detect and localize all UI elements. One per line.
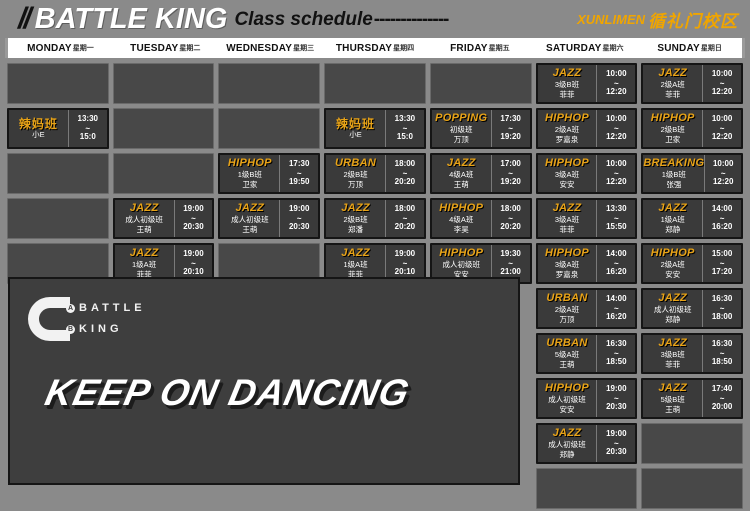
class-style-name: 辣妈班 [336,118,375,131]
class-style-name: URBAN [335,158,376,170]
class-level: 2级A班 [661,260,685,269]
empty-slot [7,153,109,194]
empty-slot [113,108,215,149]
campus-name-en: XUNLIMEN [577,12,645,27]
class-teacher: 万顶 [348,180,363,189]
day-name-cn: 星期四 [393,43,414,53]
class-end-time: 15:0 [80,132,96,143]
class-teacher: 李昊 [454,225,469,234]
time-range-tilde: ~ [191,260,196,267]
class-card[interactable]: HIPHOP1级B班卫家17:30~19:50 [218,153,320,194]
class-time: 15:00~17:20 [703,245,741,282]
day-header-friday: FRIDAY星期五 [427,38,532,58]
class-level: 成人初级班 [231,215,269,224]
class-level: 1级A班 [132,260,156,269]
class-teacher: 安安 [559,405,574,414]
class-teacher: 菲菲 [559,225,574,234]
class-level: 2级B班 [661,125,685,134]
time-range-tilde: ~ [297,215,302,222]
class-info: HIPHOP1级B班卫家 [220,155,279,192]
class-card[interactable]: HIPHOP2级A班罗嘉泉10:00~12:20 [536,108,638,149]
class-level: 成人初级班 [548,395,586,404]
class-teacher: 罗嘉泉 [556,270,579,279]
class-teacher: 郑潘 [348,225,363,234]
class-info: HIPHOP成人初级班安安 [538,380,597,417]
class-card[interactable]: POPPING初级班万顶17:30~19:20 [430,108,532,149]
class-time: 16:30~18:00 [703,290,741,327]
class-card[interactable]: HIPHOP2级B班卫家10:00~12:20 [641,108,743,149]
class-teacher: 王萌 [137,225,152,234]
class-card[interactable]: JAZZ3级B班菲菲10:00~12:20 [536,63,638,104]
class-time: 17:00~19:20 [492,155,530,192]
slash-logo-icon: // [18,4,29,34]
class-style-name: HIPHOP [545,248,589,260]
class-style-name: JAZZ [658,68,687,80]
class-end-time: 19:20 [500,177,520,188]
class-teacher: 菲菲 [665,90,680,99]
class-time: 18:00~20:20 [386,200,424,237]
class-info: JAZZ1级A班郑静 [643,200,702,237]
class-card[interactable]: HIPHOP3级A班安安10:00~12:20 [536,153,638,194]
class-style-name: JAZZ [658,338,687,350]
empty-slot [641,423,743,464]
class-info: JAZZ成人初级班郑静 [538,425,597,462]
logo-panel: A BATTLE B KING KEEP ON DANCING [8,277,520,485]
class-style-name: JAZZ [130,248,159,260]
class-end-time: 20:20 [395,222,415,233]
class-level: 3级A班 [555,260,579,269]
class-teacher: 菲菲 [665,360,680,369]
time-range-tilde: ~ [297,170,302,177]
c-shape-icon [28,297,70,341]
time-range-tilde: ~ [508,170,513,177]
empty-slot [7,198,109,239]
logo-line-king: B KING [66,324,146,335]
class-end-time: 20:00 [712,402,732,413]
class-level: 成人初级班 [443,260,481,269]
class-style-name: JAZZ [658,293,687,305]
class-info: JAZZ成人初级班王萌 [220,200,279,237]
class-level: 3级B班 [555,80,579,89]
brand-title: BATTLE KING [35,5,228,34]
badge-b-icon: B [66,325,75,334]
empty-slot [430,63,532,104]
class-time: 19:00~20:30 [175,200,213,237]
class-end-time: 12:20 [606,177,626,188]
class-time: 13:30~15:0 [69,110,107,147]
class-time: 10:00~12:20 [597,155,635,192]
class-level: 2级B班 [343,215,367,224]
time-range-tilde: ~ [720,350,725,357]
class-card[interactable]: URBAN5级A班王萌16:30~18:50 [536,333,638,374]
class-info: URBAN2级B班万顶 [326,155,385,192]
class-level: 2级A班 [555,305,579,314]
class-card[interactable]: HIPHOP成人初级班安安19:00~20:30 [536,378,638,419]
class-time: 13:30~15:50 [597,200,635,237]
battle-king-logo: A BATTLE B KING [28,297,146,341]
day-column-saturday: JAZZ3级B班菲菲10:00~12:20HIPHOP2级A班罗嘉泉10:00~… [534,61,640,511]
time-range-tilde: ~ [614,125,619,132]
class-level: 成人初级班 [654,305,692,314]
day-name-en: TUESDAY [130,43,178,54]
class-end-time: 18:50 [712,357,732,368]
class-level: 2级A班 [555,125,579,134]
class-card[interactable]: JAZZ1级A班郑静14:00~16:20 [641,198,743,239]
class-style-name: JAZZ [658,203,687,215]
time-range-tilde: ~ [508,260,513,267]
class-style-name: HIPHOP [228,158,272,170]
logo-line-battle: A BATTLE [66,303,146,314]
day-header-sunday: SUNDAY星期日 [637,38,742,58]
time-range-tilde: ~ [614,80,619,87]
day-header-thursday: THURSDAY星期四 [323,38,428,58]
class-card[interactable]: JAZZ成人初级班王萌19:00~20:30 [113,198,215,239]
class-end-time: 15:50 [606,222,626,233]
class-style-name: BREAKING [643,158,704,170]
poster-header: // BATTLE KING Class schedule ----------… [0,0,750,38]
class-teacher: 菲菲 [559,90,574,99]
class-card[interactable]: HIPHOP3级A班罗嘉泉14:00~16:20 [536,243,638,284]
time-range-tilde: ~ [720,125,725,132]
class-level: 初级班 [450,125,473,134]
empty-slot [7,63,109,104]
day-name-cn: 星期日 [701,43,722,53]
class-level: 3级B班 [661,350,685,359]
time-range-tilde: ~ [508,125,513,132]
class-teacher: 张强 [666,180,681,189]
empty-slot [324,63,426,104]
class-time: 10:00~12:20 [597,65,635,102]
class-end-time: 20:20 [500,222,520,233]
class-teacher: 罗嘉泉 [556,135,579,144]
day-name-cn: 星期二 [179,43,200,53]
class-level: 4级A班 [449,170,473,179]
day-header-monday: MONDAY星期一 [8,38,113,58]
time-range-tilde: ~ [721,170,726,177]
class-time: 16:30~18:50 [703,335,741,372]
class-info: JAZZ4级A班王萌 [432,155,491,192]
class-time: 10:00~12:20 [703,65,741,102]
time-range-tilde: ~ [403,125,408,132]
class-time: 19:00~20:30 [597,380,635,417]
class-level: 成人初级班 [548,440,586,449]
day-name-en: SATURDAY [546,43,602,54]
class-teacher: 小E [32,130,45,139]
class-level: 4级A班 [449,215,473,224]
class-style-name: 辣妈班 [19,118,58,131]
class-level: 1级B班 [662,170,686,179]
class-time: 18:00~20:20 [386,155,424,192]
class-style-name: JAZZ [553,68,582,80]
class-end-time: 16:20 [606,312,626,323]
class-end-time: 15:0 [397,132,413,143]
time-range-tilde: ~ [614,440,619,447]
class-card[interactable]: JAZZ成人初级班郑静16:30~18:00 [641,288,743,329]
class-info: JAZZ成人初级班王萌 [115,200,174,237]
class-end-time: 12:20 [606,87,626,98]
class-card[interactable]: JAZZ2级B班郑潘18:00~20:20 [324,198,426,239]
day-name-en: THURSDAY [336,43,392,54]
empty-slot [218,63,320,104]
class-end-time: 12:20 [712,132,732,143]
time-range-tilde: ~ [508,215,513,222]
class-style-name: URBAN [546,338,587,350]
day-name-en: WEDNESDAY [226,43,292,54]
class-teacher: 郑静 [665,315,680,324]
time-range-tilde: ~ [614,170,619,177]
time-range-tilde: ~ [720,395,725,402]
empty-slot [218,108,320,149]
empty-slot [641,468,743,509]
class-style-name: URBAN [546,293,587,305]
class-teacher: 王萌 [559,360,574,369]
class-card[interactable]: HIPHOP4级A班李昊18:00~20:20 [430,198,532,239]
class-card[interactable]: JAZZ成人初级班王萌19:00~20:30 [218,198,320,239]
campus-name-cn: 循礼门校区 [648,7,738,32]
class-teacher: 卫家 [242,180,257,189]
class-card[interactable]: JAZZ2级A班菲菲10:00~12:20 [641,63,743,104]
class-style-name: JAZZ [235,203,264,215]
class-card[interactable]: 辣妈班小E13:30~15:0 [7,108,109,149]
class-time: 14:00~16:20 [597,245,635,282]
class-card[interactable]: URBAN2级A班万顶14:00~16:20 [536,288,638,329]
day-name-en: SUNDAY [657,43,700,54]
class-style-name: HIPHOP [439,248,483,260]
class-info: HIPHOP2级A班罗嘉泉 [538,110,597,147]
class-level: 1级A班 [661,215,685,224]
logo-text-king: KING [79,324,123,335]
class-style-name: JAZZ [553,428,582,440]
class-end-time: 16:20 [712,222,732,233]
class-style-name: JAZZ [341,248,370,260]
class-end-time: 20:30 [289,222,309,233]
class-info: POPPING初级班万顶 [432,110,491,147]
class-card[interactable]: 辣妈班小E13:30~15:0 [324,108,426,149]
class-style-name: HIPHOP [545,113,589,125]
time-range-tilde: ~ [85,125,90,132]
class-card[interactable]: JAZZ4级A班王萌17:00~19:20 [430,153,532,194]
class-card[interactable]: JAZZ3级A班菲菲13:30~15:50 [536,198,638,239]
class-time: 17:30~19:50 [280,155,318,192]
class-level: 2级A班 [661,80,685,89]
time-range-tilde: ~ [403,260,408,267]
class-time: 10:00~12:20 [597,110,635,147]
class-teacher: 王萌 [454,180,469,189]
class-time: 13:30~15:0 [386,110,424,147]
class-end-time: 20:30 [606,402,626,413]
class-level: 5级B班 [661,395,685,404]
class-teacher: 卫家 [665,135,680,144]
class-end-time: 17:20 [712,267,732,278]
day-name-cn: 星期六 [602,43,623,53]
class-end-time: 18:00 [712,312,732,323]
class-time: 10:00~12:20 [705,155,741,192]
class-info: JAZZ2级A班菲菲 [643,65,702,102]
class-style-name: HIPHOP [439,203,483,215]
class-style-name: POPPING [435,113,487,125]
day-name-cn: 星期五 [489,43,510,53]
class-info: JAZZ3级B班菲菲 [643,335,702,372]
class-card[interactable]: HIPHOP2级A班安安15:00~17:20 [641,243,743,284]
class-style-name: JAZZ [553,203,582,215]
class-time: 14:00~16:20 [597,290,635,327]
class-end-time: 20:30 [183,222,203,233]
day-name-cn: 星期三 [293,43,314,53]
class-style-name: HIPHOP [545,158,589,170]
class-end-time: 19:50 [289,177,309,188]
class-info: URBAN2级A班万顶 [538,290,597,327]
time-range-tilde: ~ [720,215,725,222]
class-teacher: 安安 [559,180,574,189]
day-name-en: FRIDAY [450,43,488,54]
class-end-time: 12:20 [606,132,626,143]
day-name-cn: 星期一 [73,43,94,53]
class-level: 3级A班 [555,170,579,179]
day-header-row: MONDAY星期一TUESDAY星期二WEDNESDAY星期三THURSDAY星… [5,38,745,58]
time-range-tilde: ~ [614,305,619,312]
class-level: 1级A班 [343,260,367,269]
empty-slot [113,153,215,194]
class-style-name: HIPHOP [651,113,695,125]
empty-slot [113,63,215,104]
class-time: 16:30~18:50 [597,335,635,372]
class-card[interactable]: JAZZ5级B班王萌17:40~20:00 [641,378,743,419]
class-info: HIPHOP2级A班安安 [643,245,702,282]
class-end-time: 16:20 [606,267,626,278]
class-time: 17:40~20:00 [703,380,741,417]
badge-a-icon: A [66,304,75,313]
slogan-text: KEEP ON DANCING [42,374,510,411]
class-card[interactable]: JAZZ3级B班菲菲16:30~18:50 [641,333,743,374]
day-name-en: MONDAY [27,43,72,54]
class-style-name: JAZZ [447,158,476,170]
time-range-tilde: ~ [720,80,725,87]
class-info: JAZZ2级B班郑潘 [326,200,385,237]
class-card[interactable]: JAZZ成人初级班郑静19:00~20:30 [536,423,638,464]
class-info: JAZZ成人初级班郑静 [643,290,702,327]
poster-subtitle: Class schedule [234,10,372,29]
class-level: 5级A班 [555,350,579,359]
class-info: HIPHOP3级A班安安 [538,155,597,192]
class-teacher: 安安 [665,270,680,279]
class-time: 19:00~20:30 [597,425,635,462]
logo-wordmark: A BATTLE B KING [66,297,146,341]
class-info: JAZZ3级B班菲菲 [538,65,597,102]
class-end-time: 20:30 [606,447,626,458]
logo-text-battle: BATTLE [79,303,146,314]
time-range-tilde: ~ [614,395,619,402]
time-range-tilde: ~ [614,350,619,357]
day-column-sunday: JAZZ2级A班菲菲10:00~12:20HIPHOP2级B班卫家10:00~1… [639,61,745,511]
class-card[interactable]: BREAKING1级B班张强10:00~12:20 [641,153,743,194]
class-teacher: 郑静 [559,450,574,459]
class-info: HIPHOP4级A班李昊 [432,200,491,237]
class-end-time: 18:50 [606,357,626,368]
class-teacher: 万顶 [559,315,574,324]
class-teacher: 万顶 [454,135,469,144]
class-end-time: 20:20 [395,177,415,188]
class-info: JAZZ5级B班王萌 [643,380,702,417]
empty-slot [536,468,638,509]
class-info: HIPHOP3级A班罗嘉泉 [538,245,597,282]
day-header-tuesday: TUESDAY星期二 [113,38,218,58]
class-card[interactable]: URBAN2级B班万顶18:00~20:20 [324,153,426,194]
dotted-rule: -------------- [374,10,449,29]
class-info: HIPHOP2级B班卫家 [643,110,702,147]
class-info: URBAN5级A班王萌 [538,335,597,372]
time-range-tilde: ~ [614,260,619,267]
class-level: 2级B班 [343,170,367,179]
class-schedule-poster: // BATTLE KING Class schedule ----------… [0,0,750,500]
class-level: 3级A班 [555,215,579,224]
class-end-time: 12:20 [712,87,732,98]
class-time: 10:00~12:20 [703,110,741,147]
class-info: BREAKING1级B班张强 [643,155,704,192]
class-teacher: 小E [349,130,362,139]
class-time: 14:00~16:20 [703,200,741,237]
time-range-tilde: ~ [720,260,725,267]
class-level: 1级B班 [238,170,262,179]
class-time: 19:00~20:30 [280,200,318,237]
time-range-tilde: ~ [403,170,408,177]
class-time: 17:30~19:20 [492,110,530,147]
day-header-saturday: SATURDAY星期六 [532,38,637,58]
class-info: 辣妈班小E [9,110,68,147]
class-teacher: 王萌 [242,225,257,234]
class-time: 18:00~20:20 [492,200,530,237]
class-style-name: HIPHOP [545,383,589,395]
time-range-tilde: ~ [191,215,196,222]
class-style-name: JAZZ [658,383,687,395]
class-level: 成人初级班 [125,215,163,224]
class-teacher: 郑静 [665,225,680,234]
class-end-time: 19:20 [500,132,520,143]
time-range-tilde: ~ [403,215,408,222]
day-header-wednesday: WEDNESDAY星期三 [218,38,323,58]
class-info: JAZZ3级A班菲菲 [538,200,597,237]
class-style-name: JAZZ [341,203,370,215]
class-teacher: 王萌 [665,405,680,414]
time-range-tilde: ~ [720,305,725,312]
class-style-name: JAZZ [130,203,159,215]
class-style-name: HIPHOP [651,248,695,260]
time-range-tilde: ~ [614,215,619,222]
class-info: 辣妈班小E [326,110,385,147]
class-end-time: 12:20 [713,177,733,188]
